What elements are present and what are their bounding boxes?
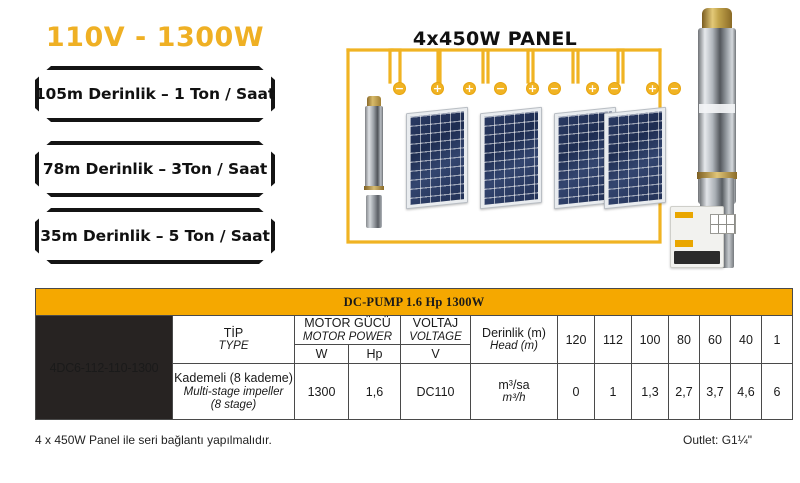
head-value-2: 100 <box>632 316 669 364</box>
pump-band <box>364 186 384 190</box>
header-type-tr: TİP <box>173 326 294 341</box>
flow-value-0: 0 <box>558 364 595 420</box>
control-box-terminal-strip <box>674 251 720 264</box>
flow-value-1: 1 <box>595 364 632 420</box>
pump-body <box>365 106 383 190</box>
pump-brass-cap <box>702 8 732 30</box>
diagram-pump-icon <box>362 96 386 231</box>
wiring-diagram: 4x450W PANEL − + + − + − + − + − <box>330 0 675 272</box>
spec-badge-78m: 78m Derinlik – 3Ton / Saat <box>35 141 275 197</box>
flow-value-5: 4,6 <box>731 364 762 420</box>
head-value-0: 120 <box>558 316 595 364</box>
submersible-pump-image <box>686 8 748 270</box>
solar-panel-2 <box>480 107 542 210</box>
voltage-heading: 110V - 1300W <box>0 22 310 53</box>
control-box-yellow-tag-top <box>675 212 693 218</box>
header-head: Derinlik (m) Head (m) <box>471 316 558 364</box>
terminal-positive-2: + <box>463 82 476 95</box>
panel-cells <box>608 111 662 205</box>
terminal-negative-4: − <box>608 82 621 95</box>
solar-panel-4 <box>604 107 666 210</box>
pump-lower <box>366 195 382 228</box>
solar-panel-1 <box>406 107 468 210</box>
head-value-1: 112 <box>595 316 632 364</box>
terminal-positive-3: + <box>526 82 539 95</box>
header-motor-power-tr: MOTOR GÜCÜ <box>295 316 400 331</box>
spec-badge-label: 105m Derinlik – 1 Ton / Saat <box>35 66 275 122</box>
type-en2: (8 stage) <box>173 399 294 413</box>
type-tr: Kademeli (8 kademe) <box>173 371 294 386</box>
header-type-en: TYPE <box>173 340 294 354</box>
spec-badge-label: 35m Derinlik – 5 Ton / Saat <box>35 208 275 264</box>
header-unit-v: V <box>401 345 471 364</box>
spec-panel: 110V - 1300W 105m Derinlik – 1 Ton / Saa… <box>0 0 320 270</box>
panel-cells <box>484 111 538 205</box>
terminal-positive-5: + <box>646 82 659 95</box>
cell-type-value: Kademeli (8 kademe) Multi-stage impeller… <box>173 364 295 420</box>
cell-flow-unit: m³/sa m³/h <box>471 364 558 420</box>
header-head-en: Head (m) <box>471 340 557 354</box>
pump-sticker-label <box>699 104 735 113</box>
header-unit-hp: Hp <box>349 345 401 364</box>
head-value-5: 40 <box>731 316 762 364</box>
terminal-negative-1: − <box>393 82 406 95</box>
flow-value-3: 2,7 <box>669 364 700 420</box>
panel-cells <box>410 111 464 205</box>
header-voltage: VOLTAJ VOLTAGE <box>401 316 471 345</box>
terminal-negative-2: − <box>494 82 507 95</box>
control-box-yellow-tag-bottom <box>675 240 693 247</box>
terminal-negative-3: − <box>548 82 561 95</box>
cell-power-w: 1300 <box>295 364 349 420</box>
header-unit-w: W <box>295 345 349 364</box>
footer-note: 4 x 450W Panel ile seri bağlantı yapılma… <box>35 433 272 447</box>
table-title-row: DC-PUMP 1.6 Hp 1300W <box>36 289 793 316</box>
cell-voltage: DC110 <box>401 364 471 420</box>
spec-badge-105m: 105m Derinlik – 1 Ton / Saat <box>35 66 275 122</box>
flow-unit-en: m³/h <box>471 392 557 406</box>
header-motor-power-en: MOTOR POWER <box>295 331 400 345</box>
table-header-row-1: 4DC6-112-110-1300 TİP TYPE MOTOR GÜCÜ MO… <box>36 316 793 345</box>
flow-unit-tr: m³/sa <box>471 378 557 393</box>
head-value-6: 1 <box>762 316 793 364</box>
header-motor-power: MOTOR GÜCÜ MOTOR POWER <box>295 316 401 345</box>
flow-value-4: 3,7 <box>700 364 731 420</box>
header-voltage-tr: VOLTAJ <box>401 316 470 331</box>
spec-badge-label: 78m Derinlik – 3Ton / Saat <box>35 141 275 197</box>
header-head-tr: Derinlik (m) <box>471 326 557 341</box>
type-en: Multi-stage impeller <box>173 386 294 400</box>
head-value-3: 80 <box>669 316 700 364</box>
specification-table: DC-PUMP 1.6 Hp 1300W 4DC6-112-110-1300 T… <box>35 288 793 420</box>
table-title: DC-PUMP 1.6 Hp 1300W <box>36 289 793 316</box>
terminal-negative-5: − <box>668 82 681 95</box>
control-box-display <box>710 214 736 234</box>
terminal-positive-1: + <box>431 82 444 95</box>
header-type: TİP TYPE <box>173 316 295 364</box>
flow-value-2: 1,3 <box>632 364 669 420</box>
cell-power-hp: 1,6 <box>349 364 401 420</box>
outlet-note: Outlet: G1¼" <box>683 433 752 447</box>
terminal-positive-4: + <box>586 82 599 95</box>
head-value-4: 60 <box>700 316 731 364</box>
spec-badge-35m: 35m Derinlik – 5 Ton / Saat <box>35 208 275 264</box>
header-voltage-en: VOLTAGE <box>401 331 470 345</box>
flow-value-6: 6 <box>762 364 793 420</box>
model-code-cell: 4DC6-112-110-1300 <box>36 316 173 420</box>
